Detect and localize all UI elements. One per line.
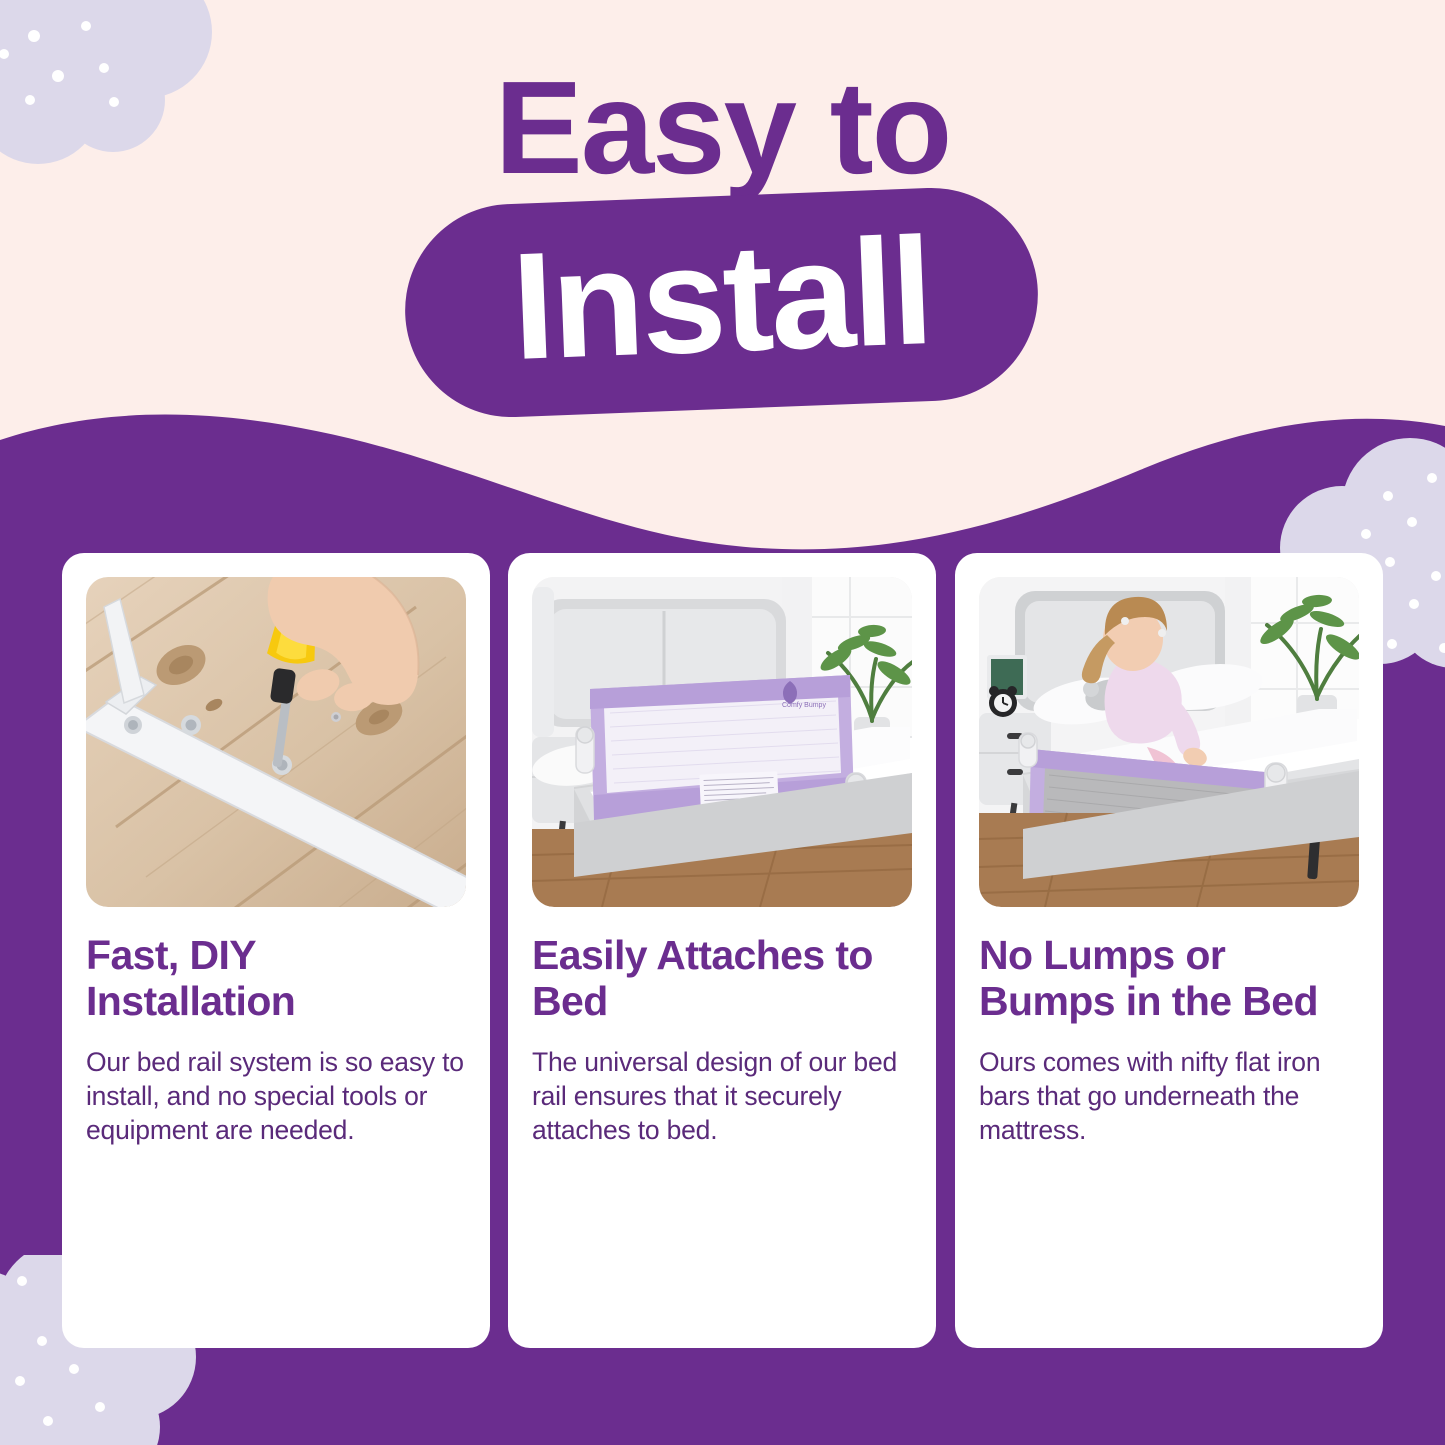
feature-cards: Fast, DIY Installation Our bed rail syst… bbox=[0, 0, 1445, 1445]
feature-card-3[interactable]: No Lumps or Bumps in the Bed Ours comes … bbox=[955, 553, 1383, 1348]
card-3-title: No Lumps or Bumps in the Bed bbox=[979, 933, 1359, 1025]
card-1-title: Fast, DIY Installation bbox=[86, 933, 466, 1025]
photo-no-lumps-or-bumps bbox=[979, 577, 1359, 907]
card-1-body: Our bed rail system is so easy to instal… bbox=[86, 1045, 466, 1148]
infographic-root: Easy to Install bbox=[0, 0, 1445, 1445]
photo-attaches-to-bed: Comfy Bumpy bbox=[532, 577, 912, 907]
feature-card-2[interactable]: Comfy Bumpy bbox=[508, 553, 936, 1348]
photo-diy-installation bbox=[86, 577, 466, 907]
feature-card-1[interactable]: Fast, DIY Installation Our bed rail syst… bbox=[62, 553, 490, 1348]
svg-text:Comfy Bumpy: Comfy Bumpy bbox=[782, 702, 826, 709]
card-3-body: Ours comes with nifty flat iron bars tha… bbox=[979, 1045, 1359, 1148]
card-2-body: The universal design of our bed rail ens… bbox=[532, 1045, 912, 1148]
card-2-title: Easily Attaches to Bed bbox=[532, 933, 912, 1025]
